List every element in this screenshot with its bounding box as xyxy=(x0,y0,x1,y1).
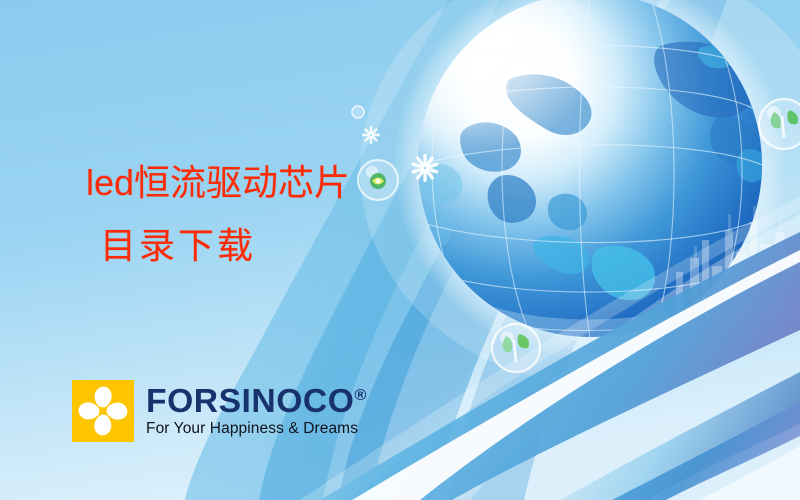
brand-logo: FORSINOCO® For Your Happiness & Dreams xyxy=(72,380,362,442)
bubble-globe-icon xyxy=(358,160,398,200)
headline-line-1-cjk: 恒流驱动芯片 xyxy=(134,163,350,203)
registered-trademark-icon: ® xyxy=(354,387,366,404)
logo-wordmark: FORSINOCO® xyxy=(146,384,366,417)
pinwheel-icon-svg xyxy=(72,380,134,442)
pinwheel-icon xyxy=(72,380,134,442)
headline-line-2: 目录下载 xyxy=(100,223,350,270)
bubble-leaf-icon xyxy=(492,324,540,372)
headline-line-1: led恒流驱动芯片 xyxy=(86,160,350,207)
bubble-plant-icon xyxy=(759,99,800,149)
headline-text-block: led恒流驱动芯片 目录下载 xyxy=(86,160,350,270)
logo-wordmark-text: FORSINOCO xyxy=(146,382,354,419)
logo-text-block: FORSINOCO® For Your Happiness & Dreams xyxy=(146,384,362,438)
headline-line-1-latin: led xyxy=(86,162,134,203)
promo-banner: led恒流驱动芯片 目录下载 FORSINOCO® For Your Happi… xyxy=(0,0,800,500)
logo-tagline: For Your Happiness & Dreams xyxy=(146,420,362,438)
bubble-small xyxy=(352,106,364,118)
